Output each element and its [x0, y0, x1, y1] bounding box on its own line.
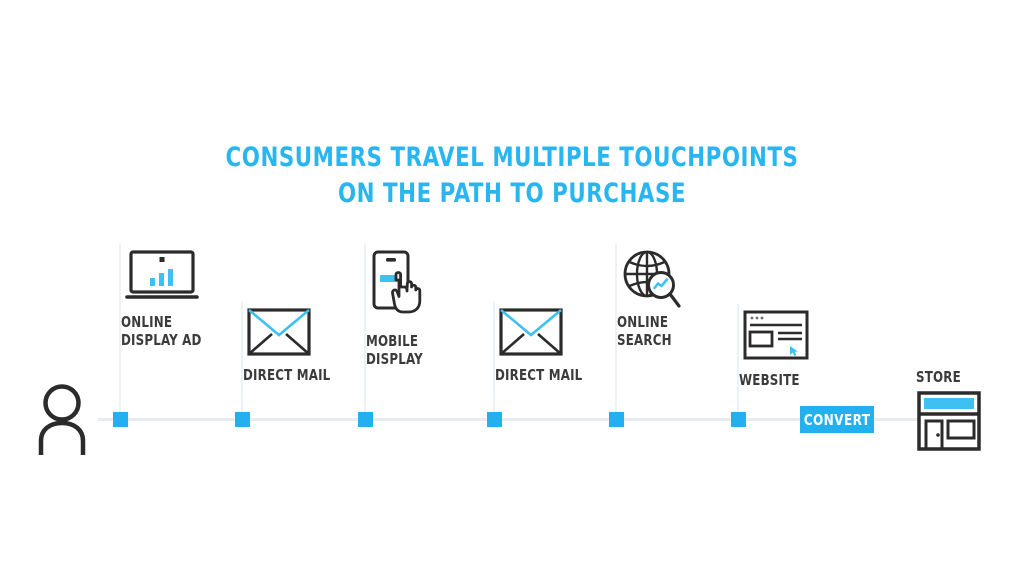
- touchpoint-label-3: MOBILE DISPLAY: [366, 332, 423, 368]
- convert-badge-label: CONVERT: [804, 411, 871, 429]
- infographic-canvas: CONSUMERS TRAVEL MULTIPLE TOUCHPOINTS ON…: [0, 0, 1024, 576]
- store-block: STORE: [916, 368, 982, 457]
- touchpoint-connector-3: [364, 244, 366, 418]
- touchpoint-connector-2: [241, 302, 243, 418]
- envelope-icon: [499, 308, 563, 361]
- convert-badge[interactable]: CONVERT: [800, 406, 874, 433]
- touchpoint-connector-6: [737, 304, 739, 418]
- person-icon: [36, 383, 88, 460]
- touchpoint-marker-6[interactable]: [731, 412, 746, 427]
- touchpoint-label-5: ONLINE SEARCH: [617, 313, 672, 349]
- title-line-1: CONSUMERS TRAVEL MULTIPLE TOUCHPOINTS: [61, 140, 962, 176]
- touchpoint-marker-4[interactable]: [487, 412, 502, 427]
- browser-icon: [743, 310, 809, 365]
- touchpoint-label-2: DIRECT MAIL: [243, 366, 330, 384]
- journey-timeline: [98, 418, 920, 421]
- touchpoint-marker-3[interactable]: [358, 412, 373, 427]
- touchpoint-marker-2[interactable]: [235, 412, 250, 427]
- storefront-icon: [916, 390, 982, 457]
- envelope-icon: [247, 308, 311, 361]
- title-line-2: ON THE PATH TO PURCHASE: [61, 176, 962, 212]
- globe-search-icon: [621, 250, 683, 315]
- touchpoint-marker-1[interactable]: [113, 412, 128, 427]
- touchpoint-connector-4: [493, 302, 495, 418]
- mobile-hand-icon: [370, 250, 432, 319]
- store-label: STORE: [916, 368, 974, 386]
- touchpoint-label-6: WEBSITE: [739, 371, 800, 389]
- touchpoint-marker-5[interactable]: [609, 412, 624, 427]
- laptop-chart-icon: [125, 250, 199, 309]
- page-title: CONSUMERS TRAVEL MULTIPLE TOUCHPOINTS ON…: [0, 140, 1024, 212]
- touchpoint-label-1: ONLINE DISPLAY AD: [121, 313, 202, 349]
- touchpoint-label-4: DIRECT MAIL: [495, 366, 582, 384]
